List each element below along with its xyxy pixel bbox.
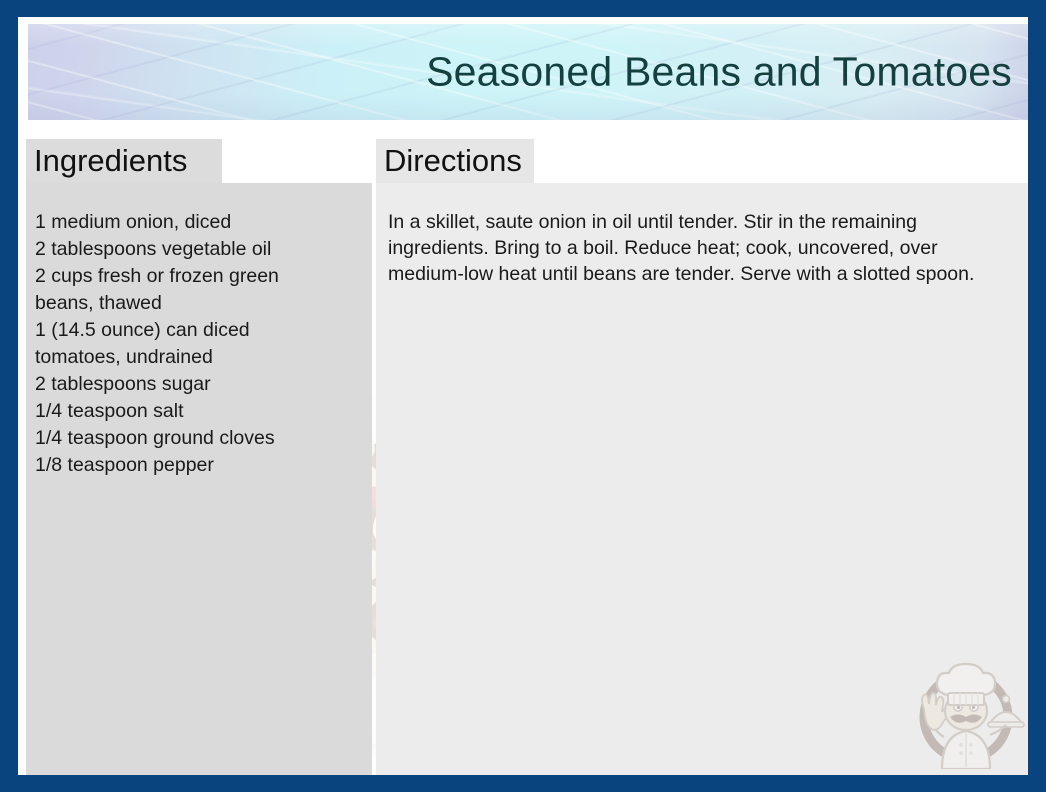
directions-heading: Directions — [376, 139, 534, 183]
ingredients-list: 1 medium onion, diced2 tablespoons veget… — [26, 183, 372, 775]
ingredient-line: 2 tablespoons sugar — [35, 371, 354, 398]
ingredient-line: 2 cups fresh or frozen green — [35, 263, 354, 290]
directions-panel: Directions In a skillet, saute onion in … — [368, 139, 1028, 775]
directions-body: In a skillet, saute onion in oil until t… — [376, 183, 1028, 775]
ingredient-line: beans, thawed — [35, 290, 354, 317]
slide-content-area: Seasoned Beans and Tomatoes Ingredients … — [18, 17, 1028, 775]
title-banner: Seasoned Beans and Tomatoes — [28, 24, 1028, 120]
page-title: Seasoned Beans and Tomatoes — [426, 49, 1012, 94]
ingredient-line: 1 medium onion, diced — [35, 209, 354, 236]
ingredients-panel: Ingredients 1 medium onion, diced2 table… — [26, 139, 372, 775]
ingredient-line: 2 tablespoons vegetable oil — [35, 236, 354, 263]
ingredient-line: tomatoes, undrained — [35, 344, 354, 371]
ingredient-line: 1 (14.5 ounce) can diced — [35, 317, 354, 344]
ingredient-line: 1/8 teaspoon pepper — [35, 452, 354, 479]
ingredient-line: 1/4 teaspoon ground cloves — [35, 425, 354, 452]
directions-text: In a skillet, saute onion in oil until t… — [388, 209, 990, 287]
slide-canvas: Seasoned Beans and Tomatoes Ingredients … — [0, 0, 1046, 792]
ingredients-heading: Ingredients — [26, 139, 222, 183]
ingredient-line: 1/4 teaspoon salt — [35, 398, 354, 425]
